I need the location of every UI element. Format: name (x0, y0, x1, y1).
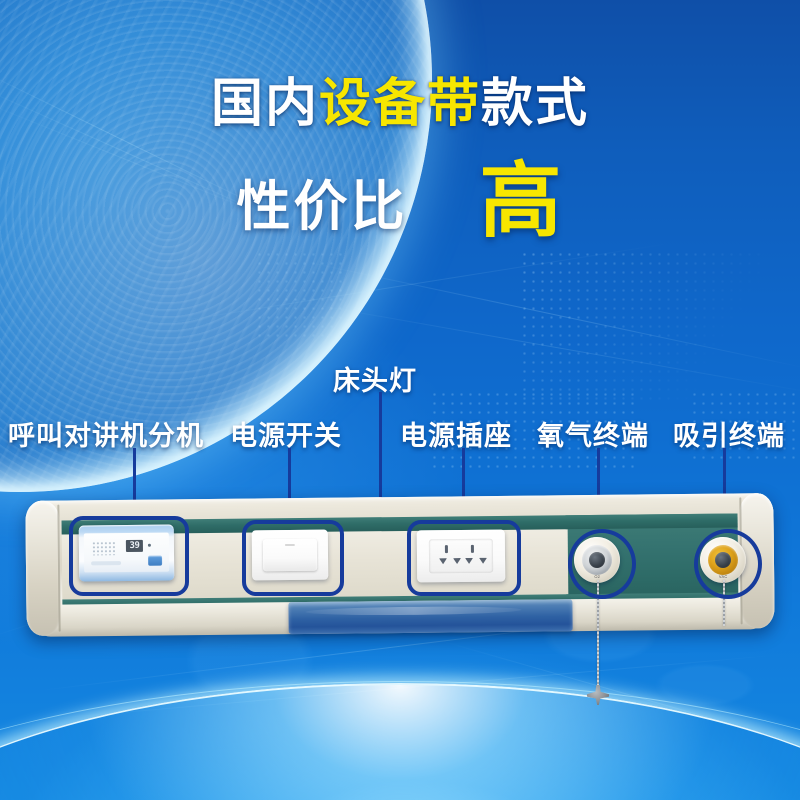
callout-label-power-switch: 电源开关 (230, 414, 342, 453)
callout-label-oxygen-terminal: 氧气终端 (537, 414, 649, 453)
callout-label-suction-terminal: 吸引终端 (673, 414, 785, 453)
product-promo-image: 国内设备带款式 性价比高 呼叫对讲机分机 电源开关 床头灯 电源插座 氧气终端 … (0, 0, 800, 800)
panel-end-cap-left (25, 501, 60, 636)
headline-part-2-accent: 设备带 (319, 75, 481, 133)
callout-label-bed-lamp: 床头灯 (333, 359, 417, 398)
highlight-circle-suction-terminal (694, 529, 762, 599)
highlight-box-power-switch (242, 520, 344, 596)
subheadline-text: 性价比 (236, 162, 407, 241)
highlight-circle-oxygen-terminal (568, 529, 636, 599)
headline-line-2: 性价比高 (0, 162, 800, 241)
highlight-box-power-socket (407, 520, 521, 596)
headline-part-3: 款式 (481, 75, 589, 133)
subheadline-accent: 高 (479, 163, 563, 241)
callout-label-intercom: 呼叫对讲机分机 (8, 414, 204, 453)
highlight-box-intercom (69, 516, 189, 596)
callout-label-power-socket: 电源插座 (400, 414, 512, 453)
headline-part-1: 国内 (211, 75, 319, 133)
halftone-dots (520, 250, 760, 400)
headline-line-1: 国内设备带款式 (0, 78, 800, 130)
halftone-dots (255, 250, 345, 340)
bed-lamp-diffuser (288, 599, 572, 634)
